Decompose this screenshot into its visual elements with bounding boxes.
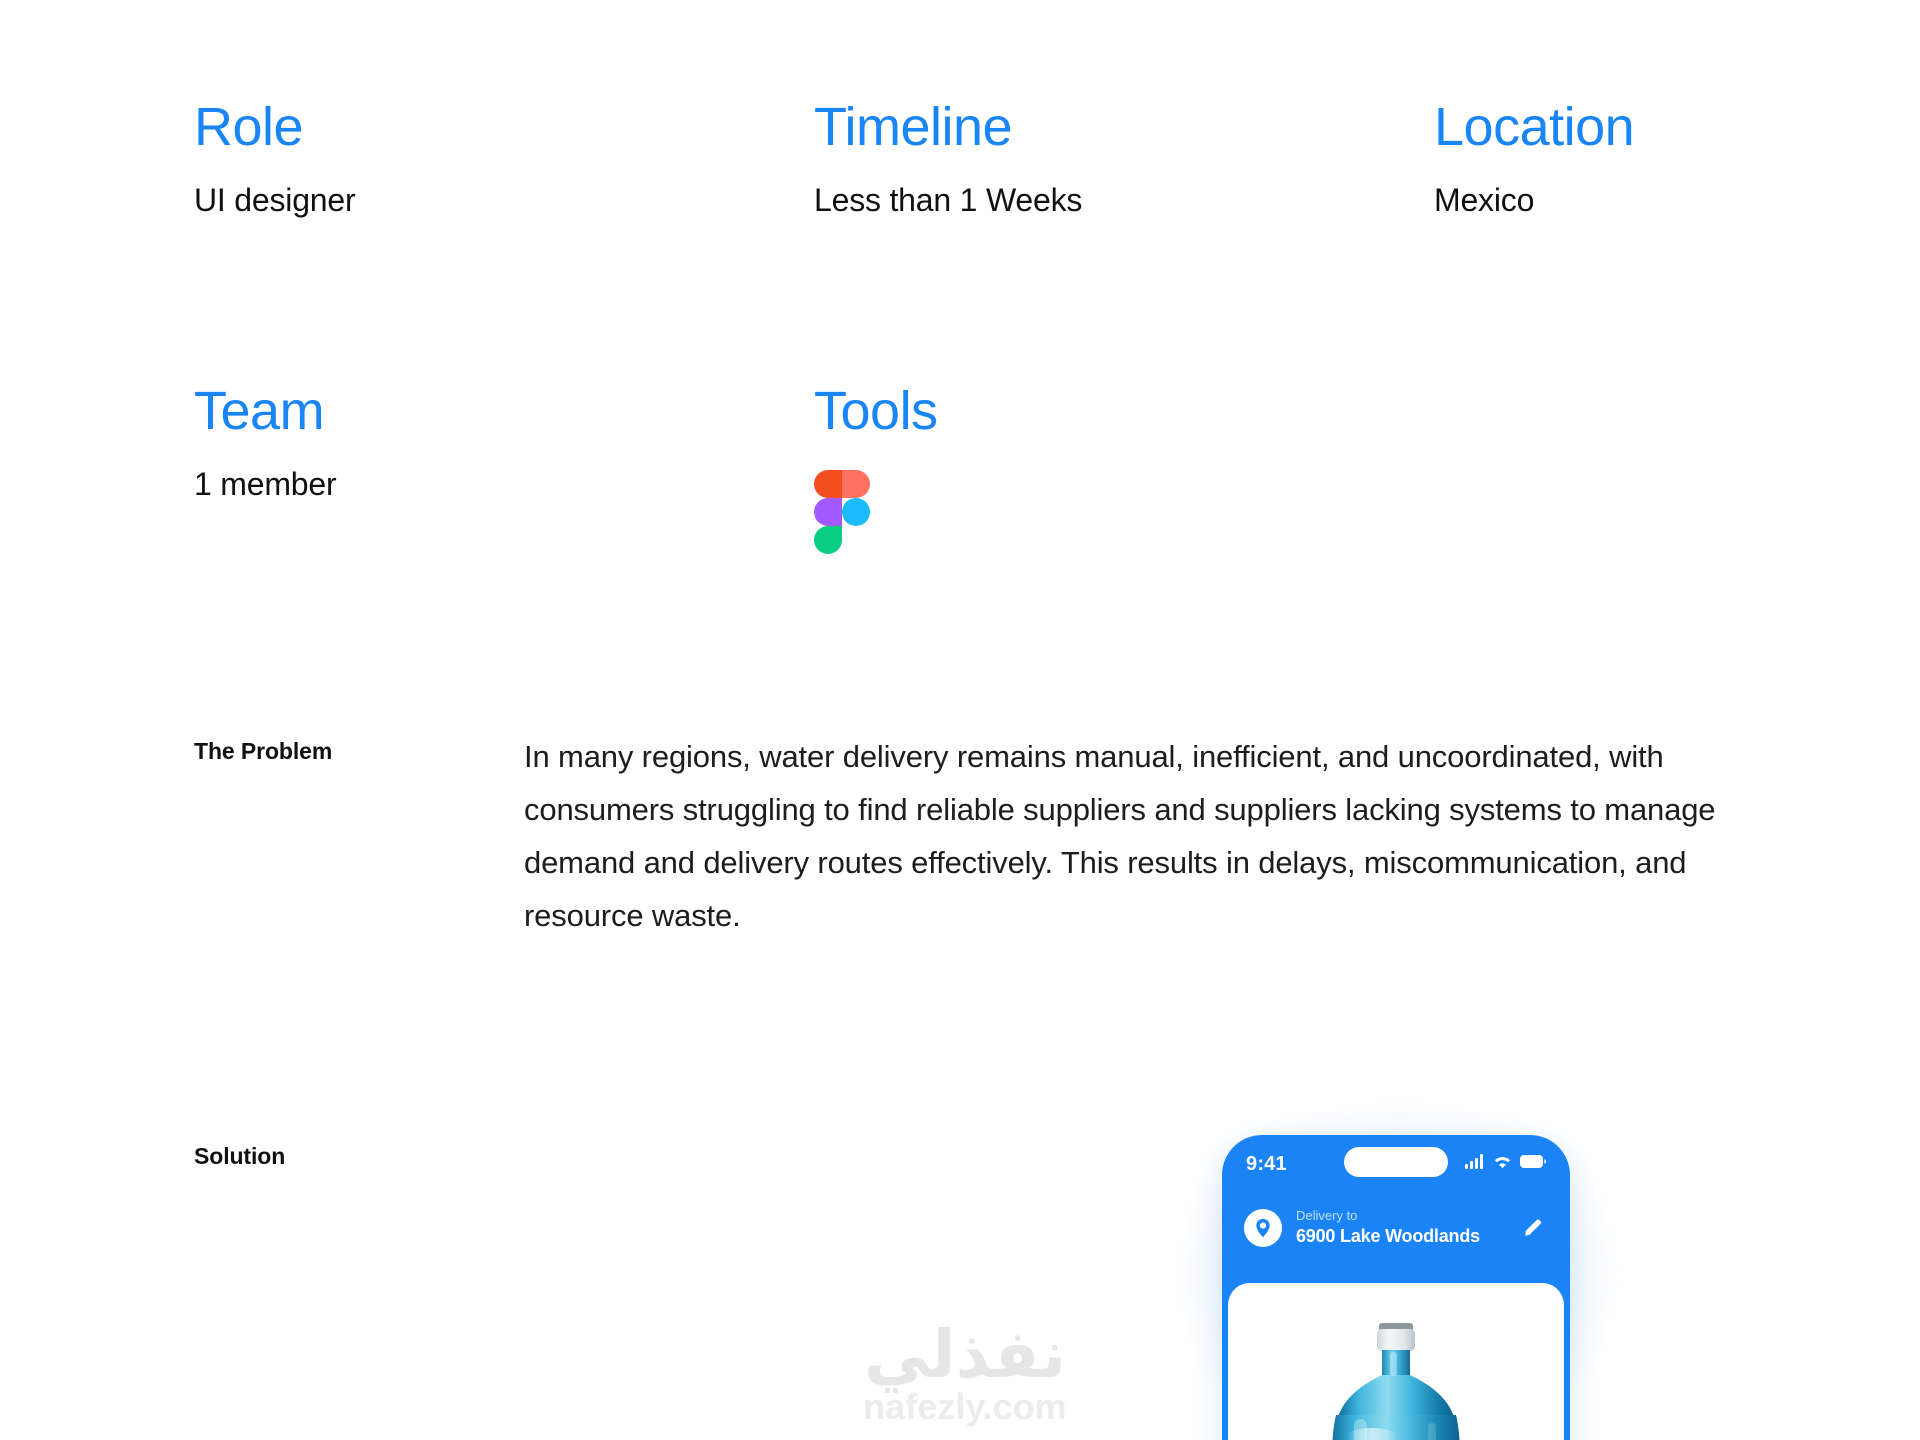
battery-icon [1520,1155,1546,1173]
team-heading: Team [194,380,814,442]
location-heading: Location [1434,96,1754,158]
delivery-address-header[interactable]: Delivery to 6900 Lake Woodlands [1222,1193,1570,1270]
meta-cell-tools: Tools [814,380,1434,554]
product-card [1228,1283,1564,1440]
tools-icon-list [814,470,1434,554]
nafezly-watermark: نفذلي nafezly.com [830,1318,1100,1428]
role-heading: Role [194,96,814,158]
watermark-arabic-text: نفذلي [830,1318,1100,1390]
status-bar-indicators [1465,1154,1546,1174]
meta-row-primary: Role UI designer Timeline Less than 1 We… [194,96,1754,220]
water-jug-photo [1320,1319,1472,1440]
delivery-to-label: Delivery to [1296,1207,1480,1224]
phone-screen: 9:41 [1222,1135,1570,1440]
delivery-text-group: Delivery to 6900 Lake Woodlands [1296,1207,1480,1248]
timeline-heading: Timeline [814,96,1434,158]
edit-pencil-icon[interactable] [1518,1213,1548,1243]
project-meta-grid: Role UI designer Timeline Less than 1 We… [194,96,1754,554]
location-pin-icon [1244,1209,1282,1247]
problem-body: In many regions, water delivery remains … [524,730,1769,942]
dynamic-island [1344,1147,1448,1177]
watermark-latin-text: nafezly.com [830,1386,1100,1428]
timeline-value: Less than 1 Weeks [814,180,1434,220]
phone-status-bar: 9:41 [1222,1135,1570,1193]
role-value: UI designer [194,180,814,220]
meta-cell-timeline: Timeline Less than 1 Weeks [814,96,1434,220]
figma-logo-icon [814,470,870,554]
meta-cell-location: Location Mexico [1434,96,1754,220]
status-bar-time: 9:41 [1246,1153,1287,1176]
problem-section: The Problem In many regions, water deliv… [194,730,1794,942]
meta-row-secondary: Team 1 member Tools [194,380,1754,554]
location-value: Mexico [1434,180,1754,220]
team-value: 1 member [194,464,814,504]
cellular-signal-icon [1465,1154,1485,1174]
wifi-icon [1493,1155,1512,1174]
solution-label: Solution [194,1135,524,1171]
meta-cell-team: Team 1 member [194,380,814,504]
meta-cell-role: Role UI designer [194,96,814,220]
phone-mockup: 9:41 [1168,1095,1628,1440]
portfolio-case-study-page: Role UI designer Timeline Less than 1 We… [0,0,1920,1440]
problem-label: The Problem [194,730,524,766]
delivery-address-value: 6900 Lake Woodlands [1296,1224,1480,1248]
tools-heading: Tools [814,380,1434,442]
